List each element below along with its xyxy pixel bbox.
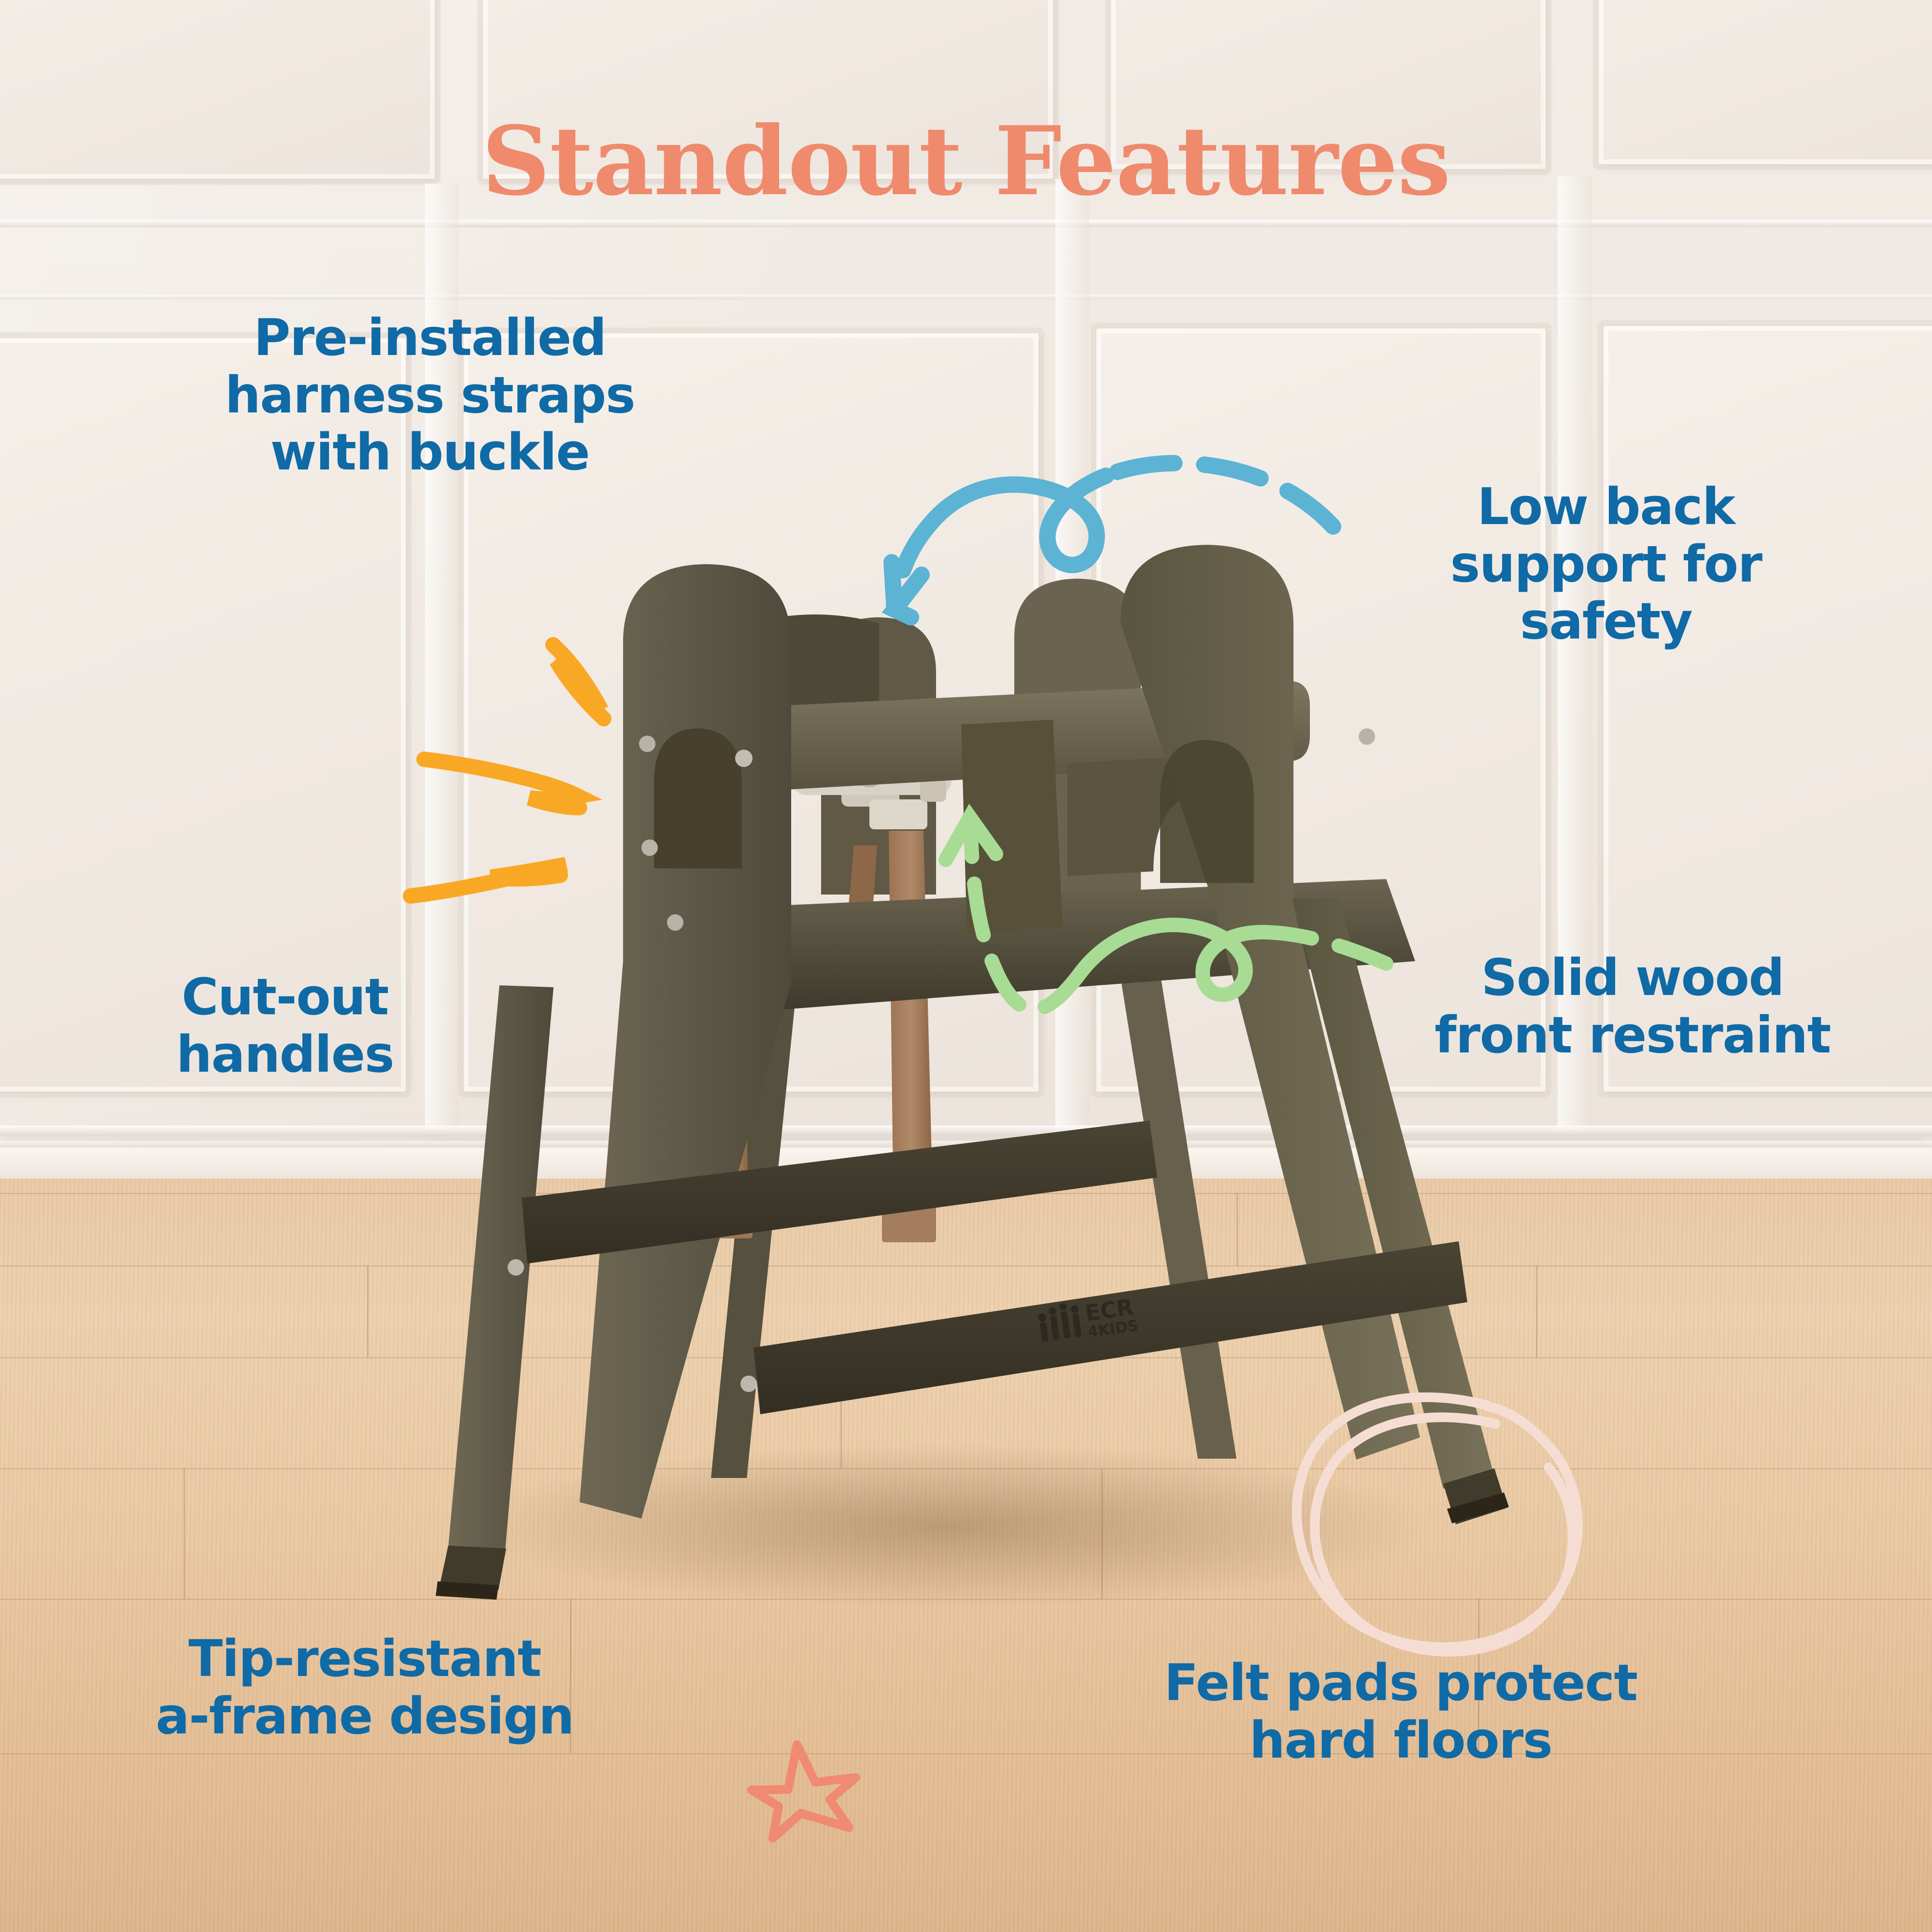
yellow-emphasis-marks-icon bbox=[411, 645, 604, 896]
blue-dashed-arrow-icon bbox=[892, 463, 1333, 617]
feature-label-cutout-handles: Cut-out handles bbox=[101, 968, 469, 1083]
page-title: Standout Features bbox=[0, 114, 1932, 209]
pink-circle-icon bbox=[1297, 1397, 1578, 1652]
feature-label-harness: Pre-installed harness straps with buckle bbox=[145, 309, 715, 481]
feature-label-low-back-support: Low back support for safety bbox=[1304, 478, 1908, 650]
green-dashed-arrow-icon bbox=[946, 817, 1386, 1009]
coral-star-icon bbox=[752, 1745, 856, 1838]
feature-label-front-restraint: Solid wood front restraint bbox=[1343, 949, 1922, 1064]
feature-label-tip-resistant: Tip-resistant a-frame design bbox=[63, 1630, 667, 1745]
feature-label-felt-pads: Felt pads protect hard floors bbox=[1082, 1654, 1719, 1769]
infographic-canvas: wn with infant carrier . causing injury … bbox=[0, 0, 1932, 1932]
